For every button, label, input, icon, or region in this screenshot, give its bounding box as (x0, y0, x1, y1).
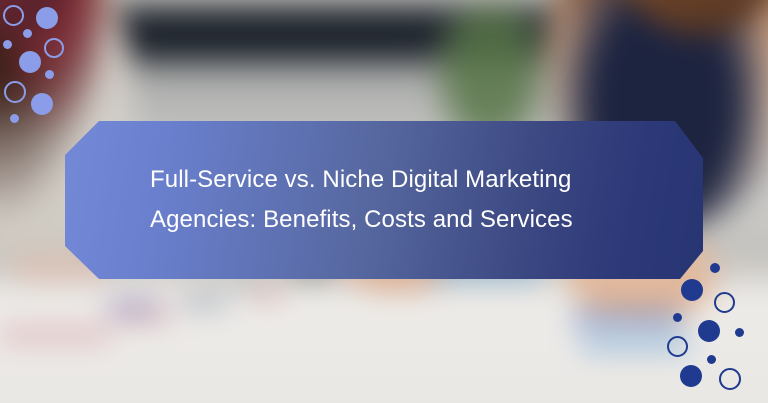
title-banner: Full-Service vs. Niche Digital Marketing… (65, 121, 703, 279)
background-document (108, 302, 158, 314)
page-title: Full-Service vs. Niche Digital Marketing… (65, 160, 613, 240)
background-document (252, 288, 284, 300)
background-document (572, 312, 682, 324)
background-document (580, 338, 690, 350)
background-person-left-hair (0, 0, 68, 36)
background-person-right-hair (605, 0, 768, 35)
background-document (0, 328, 110, 341)
featured-image-canvas: Full-Service vs. Niche Digital Marketing… (0, 0, 768, 403)
background-document (182, 295, 227, 309)
